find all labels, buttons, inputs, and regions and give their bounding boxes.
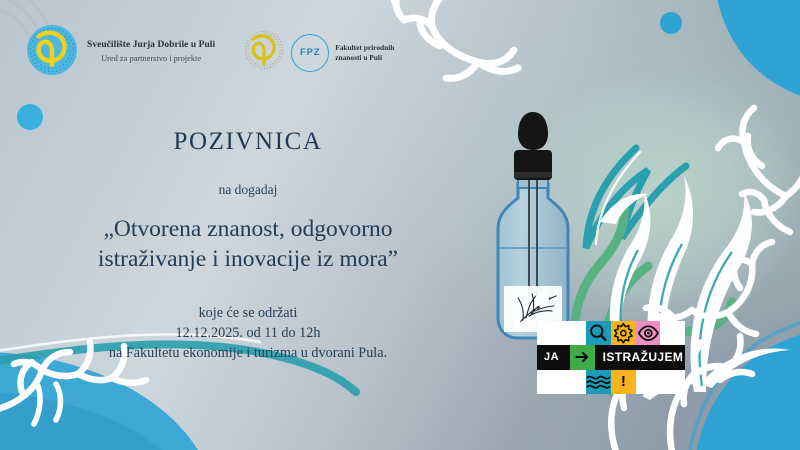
invitation-lead: na dogadaj: [24, 182, 472, 198]
blue-dot-topright: [660, 12, 682, 34]
coral-top-center: [392, 0, 518, 78]
eye-icon: [636, 321, 661, 345]
logo-tile-blank-3: [660, 321, 685, 345]
header-logos: Sveučilište Jurja Dobrile u Puli Ured za…: [26, 24, 397, 81]
logo-tile-blank-4: [537, 370, 562, 394]
exclamation-icon: !: [611, 370, 636, 394]
invitation-text-block: POZIVNICA na dogadaj „Otvorena znanost, …: [24, 128, 472, 363]
ja-istrazujem-logo: JA ISTRAŽUJEM: [537, 321, 685, 394]
label-bubble: [535, 293, 549, 307]
event-title-line-1: „Otvorena znanost, odgovorno: [24, 215, 472, 245]
event-venue-line: na Fakultetu ekonomije i turizma u dvora…: [24, 343, 472, 363]
unipu-name: Sveučilište Jurja Dobrile u Puli: [87, 40, 215, 52]
page-title: POZIVNICA: [24, 128, 472, 156]
event-title-line-2: istraživanje i inovacije iz mora”: [24, 245, 472, 275]
logo-tile-blank-7: [660, 370, 685, 394]
waves-icon: [586, 370, 611, 394]
dropper-bulb: [518, 112, 548, 150]
event-title: „Otvorena znanost, odgovorno istraživanj…: [24, 215, 472, 275]
exclamation-mark: !: [611, 370, 636, 394]
unipu-subtitle: Ured za partnerstvo i projekte: [87, 54, 215, 65]
magnifier-icon: [586, 321, 611, 345]
logo-tile-blank-5: [562, 370, 587, 394]
fpz-logo: FPZ Fakultet prirodnih znanosti u Puli: [243, 29, 397, 76]
gear-sun-icon: [611, 321, 636, 345]
fpz-abbrev: FPZ: [300, 47, 320, 58]
blue-dot-topleft: [17, 104, 43, 130]
label-bubble-2: [513, 321, 523, 331]
event-when-line-2: 12.12.2025. od 11 do 12h: [24, 323, 472, 343]
event-when-line-1: koje će se održati: [24, 303, 472, 323]
logo-wordmark-bar: JA ISTRAŽUJEM: [537, 345, 685, 369]
bottle-cap-band: [514, 172, 552, 178]
logo-word-ja: JA: [537, 351, 570, 363]
invitation-poster: Sveučilište Jurja Dobrile u Puli Ured za…: [0, 0, 800, 450]
spiral-logo-icon-fpz: [243, 29, 285, 76]
logo-tile-blank-1: [537, 321, 562, 345]
fpz-abbrev-badge: FPZ: [291, 34, 329, 72]
logo-tile-blank-6: [636, 370, 661, 394]
event-details: koje će se održati 12.12.2025. od 11 do …: [24, 303, 472, 363]
logo-word-istrazujem: ISTRAŽUJEM: [595, 350, 684, 364]
fpz-name: Fakultet prirodnih znanosti u Puli: [335, 43, 397, 63]
logo-tile-blank-2: [562, 321, 587, 345]
unipu-logo: Sveučilište Jurja Dobrile u Puli Ured za…: [26, 24, 215, 81]
arrow-right-icon: [570, 345, 595, 369]
blue-arc-bottomright: [694, 330, 800, 450]
spiral-logo-icon: [26, 24, 78, 81]
